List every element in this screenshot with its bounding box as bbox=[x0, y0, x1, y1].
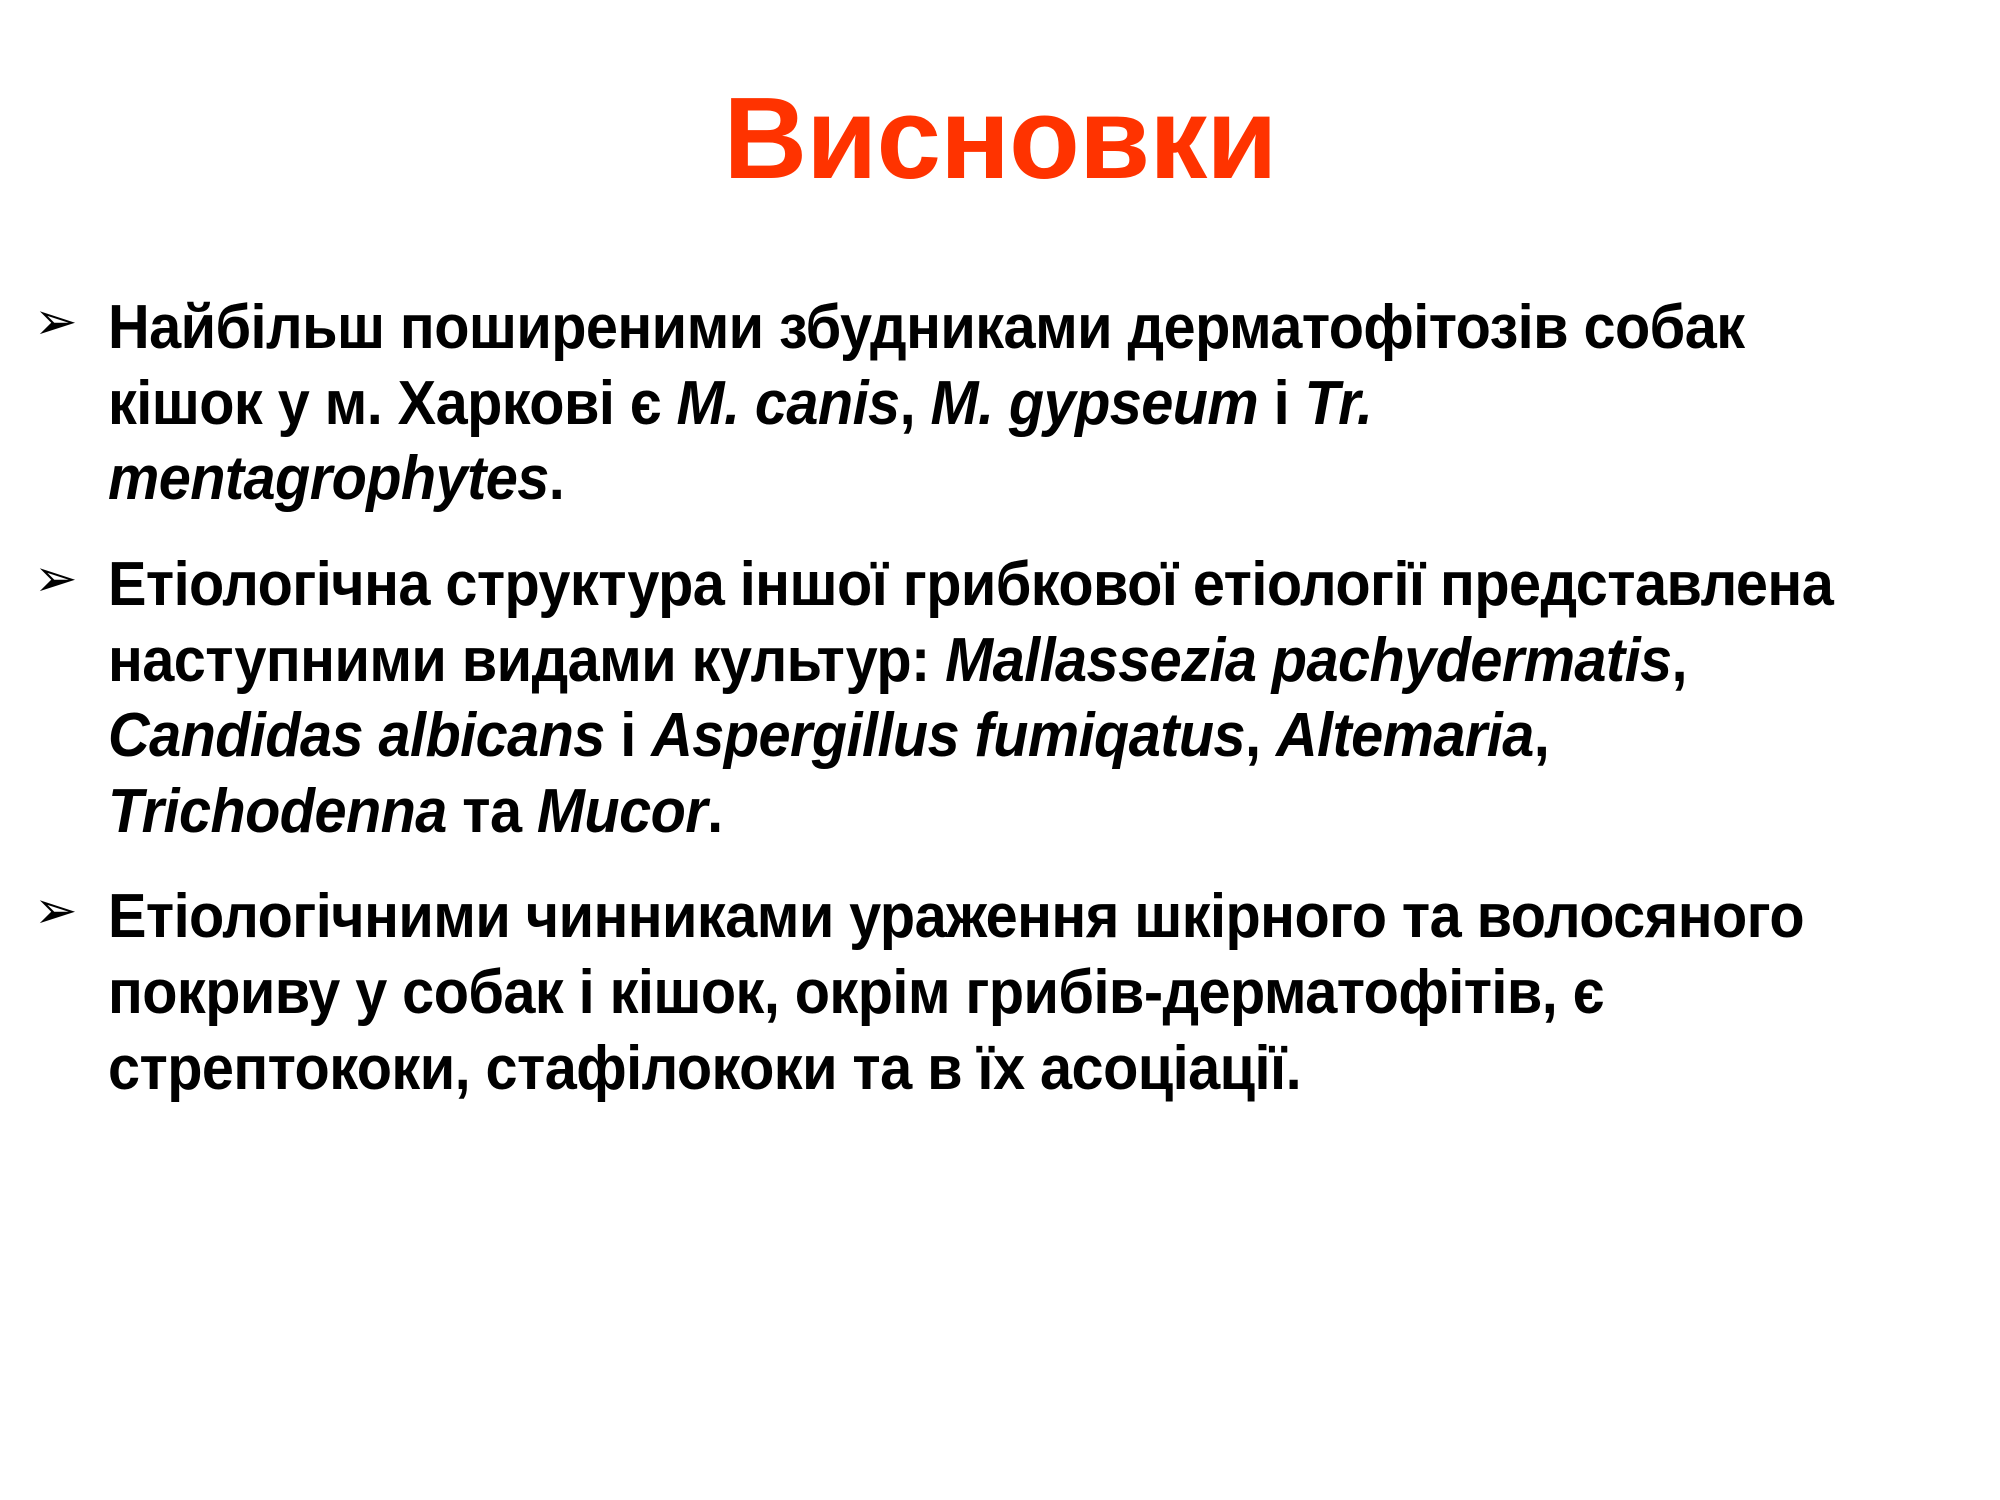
bullet-list: ➢ Найбільш поширеними збудниками дермато… bbox=[34, 290, 1964, 1106]
list-item: ➢ Етіологічними чинниками ураження шкірн… bbox=[34, 879, 1964, 1106]
arrow-bullet-icon: ➢ bbox=[34, 290, 108, 350]
bullet-1-text: Найбільш поширеними збудниками дерматофі… bbox=[108, 290, 1834, 517]
bullet-2-text: Етіологічна структура іншої грибкової ет… bbox=[108, 547, 1834, 850]
bullet-3-text: Етіологічними чинниками ураження шкірног… bbox=[108, 879, 1834, 1106]
arrow-bullet-icon: ➢ bbox=[34, 879, 108, 939]
list-item: ➢ Етіологічна структура іншої грибкової … bbox=[34, 547, 1964, 850]
slide-root: Висновки ➢ Найбільш поширеними збудникам… bbox=[0, 0, 2000, 1500]
arrow-bullet-icon: ➢ bbox=[34, 547, 108, 607]
page-title: Висновки bbox=[0, 78, 2000, 200]
list-item: ➢ Найбільш поширеними збудниками дермато… bbox=[34, 290, 1964, 517]
